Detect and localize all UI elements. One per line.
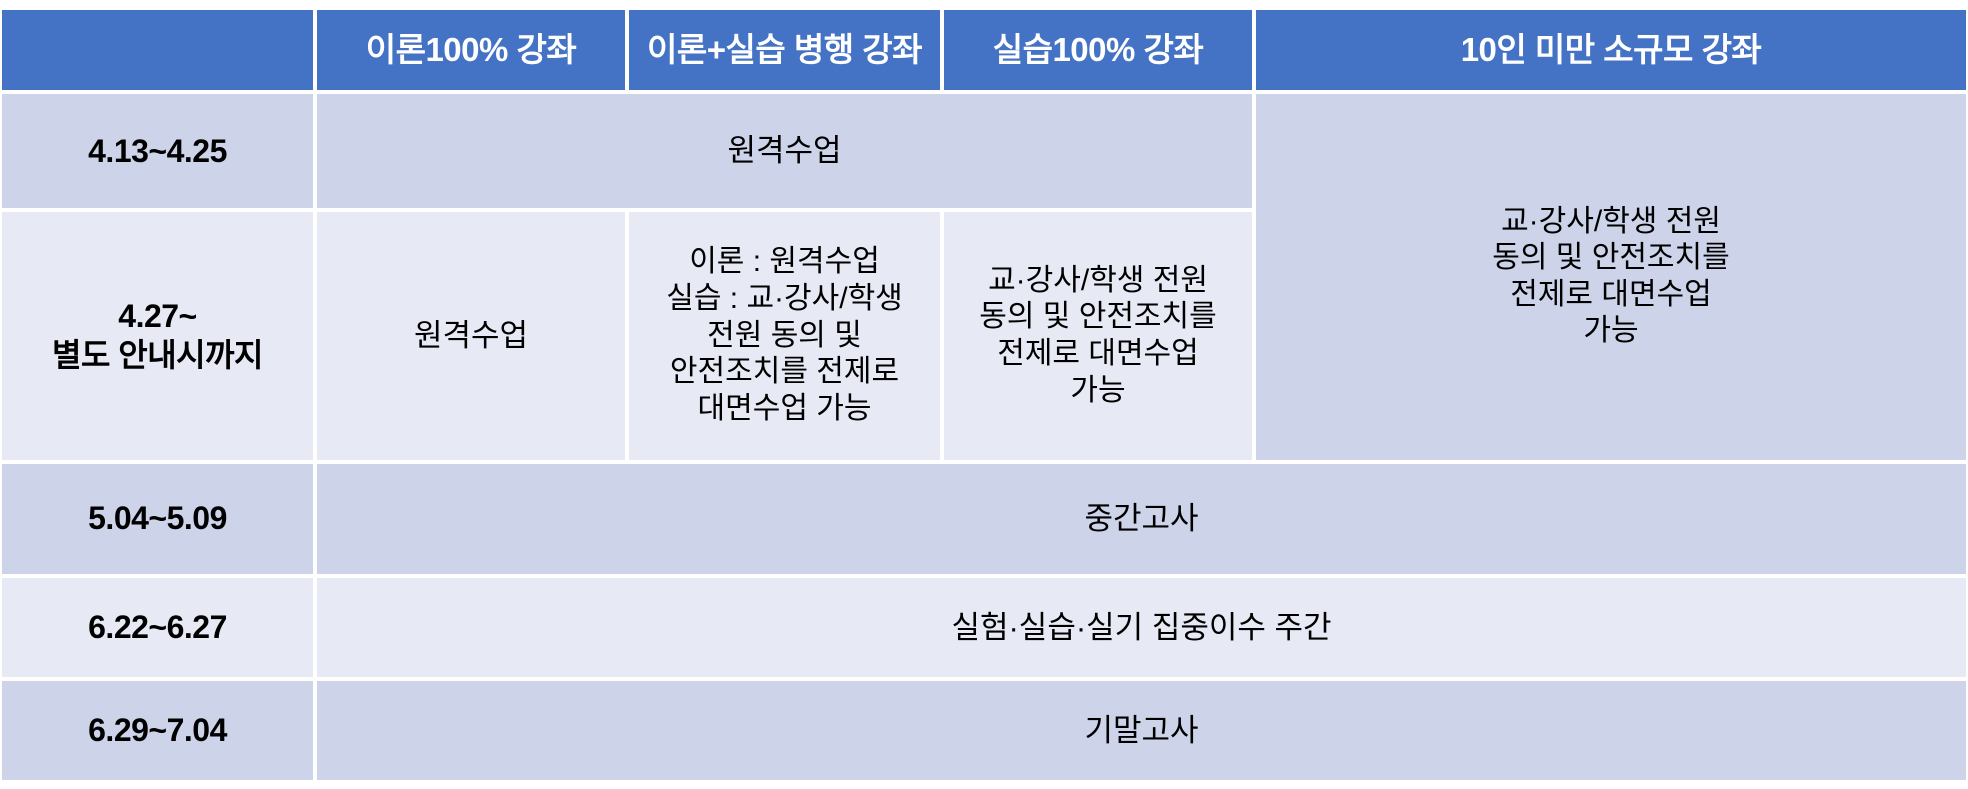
period-line1: 4.27~ — [2, 297, 313, 336]
practice-line2: 동의 및 안전조치를 — [950, 299, 1246, 336]
schedule-table-container: 이론100% 강좌 이론+실습 병행 강좌 실습100% 강좌 10인 미만 소… — [0, 0, 1968, 789]
practice-line4: 가능 — [950, 373, 1246, 410]
header-cell-small-class: 10인 미만 소규모 강좌 — [1254, 6, 1968, 92]
header-cell-period — [0, 6, 315, 92]
cell-theory100: 원격수업 — [315, 210, 627, 462]
header-small-class-line1: 10인 미만 소규모 — [1461, 31, 1693, 68]
table-row: 6.22~6.27 실험·실습·실기 집중이수 주간 — [0, 576, 1968, 679]
cell-practice100: 교·강사/학생 전원 동의 및 안전조치를 전제로 대면수업 가능 — [942, 210, 1254, 462]
small-class-line1: 교·강사/학생 전원 — [1262, 204, 1960, 241]
row-span-cell-intensive-week: 실험·실습·실기 집중이수 주간 — [315, 576, 1968, 679]
row-span-cell-midterm: 중간고사 — [315, 462, 1968, 576]
header-cell-theory100: 이론100% 강좌 — [315, 6, 627, 92]
course-schedule-table: 이론100% 강좌 이론+실습 병행 강좌 실습100% 강좌 10인 미만 소… — [0, 6, 1968, 782]
small-class-merged-cell: 교·강사/학생 전원 동의 및 안전조치를 전제로 대면수업 가능 — [1254, 92, 1968, 462]
mixed-line1: 이론 : 원격수업 — [635, 244, 934, 281]
mixed-line4: 안전조치를 전제로 — [635, 354, 934, 391]
row-span-cell-final-exam: 기말고사 — [315, 679, 1968, 782]
header-cell-mixed: 이론+실습 병행 강좌 — [627, 6, 942, 92]
small-class-line4: 가능 — [1262, 313, 1960, 350]
header-small-class-line2: 강좌 — [1702, 31, 1762, 68]
row-period-label: 5.04~5.09 — [0, 462, 315, 576]
table-row: 4.13~4.25 원격수업 교·강사/학생 전원 동의 및 안전조치를 전제로… — [0, 92, 1968, 210]
row-span-cell-remote: 원격수업 — [315, 92, 1254, 210]
table-header: 이론100% 강좌 이론+실습 병행 강좌 실습100% 강좌 10인 미만 소… — [0, 6, 1968, 92]
practice-line1: 교·강사/학생 전원 — [950, 263, 1246, 300]
period-line2: 별도 안내시까지 — [2, 336, 313, 375]
table-row: 6.29~7.04 기말고사 — [0, 679, 1968, 782]
table-row: 5.04~5.09 중간고사 — [0, 462, 1968, 576]
small-class-line3: 전제로 대면수업 — [1262, 277, 1960, 314]
mixed-line2: 실습 : 교·강사/학생 — [635, 281, 934, 318]
row-period-label: 6.22~6.27 — [0, 576, 315, 679]
row-period-label: 6.29~7.04 — [0, 679, 315, 782]
table-body: 4.13~4.25 원격수업 교·강사/학생 전원 동의 및 안전조치를 전제로… — [0, 92, 1968, 782]
mixed-line5: 대면수업 가능 — [635, 391, 934, 428]
header-row: 이론100% 강좌 이론+실습 병행 강좌 실습100% 강좌 10인 미만 소… — [0, 6, 1968, 92]
small-class-line2: 동의 및 안전조치를 — [1262, 240, 1960, 277]
practice-line3: 전제로 대면수업 — [950, 336, 1246, 373]
header-cell-practice100: 실습100% 강좌 — [942, 6, 1254, 92]
cell-mixed: 이론 : 원격수업 실습 : 교·강사/학생 전원 동의 및 안전조치를 전제로… — [627, 210, 942, 462]
mixed-line3: 전원 동의 및 — [635, 318, 934, 355]
row-period-label: 4.13~4.25 — [0, 92, 315, 210]
row-period-label: 4.27~ 별도 안내시까지 — [0, 210, 315, 462]
